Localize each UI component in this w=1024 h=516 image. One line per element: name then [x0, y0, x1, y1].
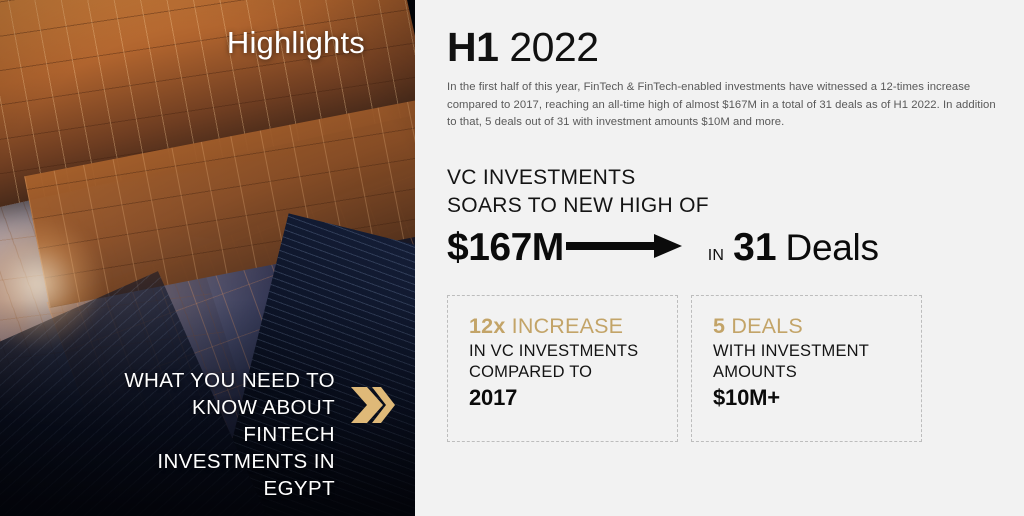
page-title-year: 2022 — [509, 24, 598, 70]
kicker-row: WHAT YOU NEED TO KNOW ABOUT FINTECH INVE… — [30, 367, 395, 502]
headline-block: VC INVESTMENTS SOARS TO NEW HIGH OF $167… — [447, 164, 1002, 270]
headline-amount-row: $167M IN 31 Deals — [447, 226, 1002, 270]
stats-row: 12x INCREASE IN VC INVESTMENTS COMPARED … — [447, 295, 1002, 442]
stat-headline-increase: 12x INCREASE — [469, 313, 677, 339]
deals-word: Deals — [786, 226, 879, 270]
page-title: H1 2022 — [447, 24, 1002, 70]
page-title-bold: H1 — [447, 24, 498, 70]
stat-card-increase: 12x INCREASE IN VC INVESTMENTS COMPARED … — [447, 295, 678, 442]
stat-headline-deals: 5 DEALS — [713, 313, 921, 339]
slide: Highlights WHAT YOU NEED TO KNOW ABOUT F… — [0, 0, 1024, 516]
stat-emphasis-increase: 2017 — [469, 384, 677, 411]
stat-word-increase: INCREASE — [512, 314, 624, 338]
deals-in-label: IN — [708, 247, 724, 265]
double-chevron-right-icon — [349, 383, 395, 432]
stat-word-deals: DEALS — [731, 314, 803, 338]
stat-number-deals: 5 — [713, 314, 725, 338]
left-image-panel: Highlights WHAT YOU NEED TO KNOW ABOUT F… — [0, 0, 415, 516]
kicker-text: WHAT YOU NEED TO KNOW ABOUT FINTECH INVE… — [124, 367, 335, 502]
stat-card-deals: 5 DEALS WITH INVESTMENT AMOUNTS $10M+ — [691, 295, 922, 442]
headline-line-1: VC INVESTMENTS — [447, 164, 1002, 192]
stat-subtitle-increase: IN VC INVESTMENTS COMPARED TO — [469, 341, 677, 383]
arrow-right-icon — [566, 233, 682, 264]
right-content-panel: H1 2022 In the first half of this year, … — [415, 0, 1024, 516]
headline-line-2: SOARS TO NEW HIGH OF — [447, 192, 1002, 220]
stat-emphasis-deals: $10M+ — [713, 384, 921, 411]
intro-paragraph: In the first half of this year, FinTech … — [447, 79, 1002, 132]
deals-count: 31 — [733, 226, 776, 270]
panel-title: Highlights — [0, 25, 365, 61]
investment-amount: $167M — [447, 226, 564, 270]
deals-group: IN 31 Deals — [708, 226, 879, 270]
stat-subtitle-deals: WITH INVESTMENT AMOUNTS — [713, 341, 921, 383]
stat-number-increase: 12x — [469, 314, 505, 338]
